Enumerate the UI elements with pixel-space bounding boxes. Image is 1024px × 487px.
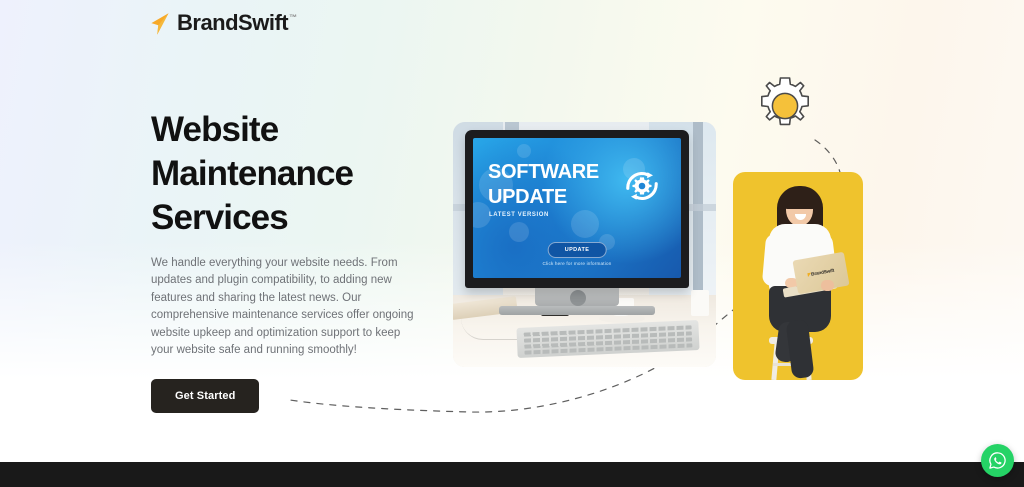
laptop-brand-logo: ◤BrandSwift [807, 268, 834, 279]
portrait-photo-card: ◤BrandSwift [733, 172, 863, 380]
update-gear-refresh-icon [620, 164, 664, 208]
laptop-logo-text: BrandSwift [811, 268, 835, 277]
imac-monitor: SOFTWARE UPDATE LATEST VERSION UPDATE Cl… [465, 130, 689, 288]
orange-arrow-logo-icon [146, 11, 172, 37]
site-header: BrandSwift ™ [0, 0, 1024, 46]
monitor-photo-card: SOFTWARE UPDATE LATEST VERSION UPDATE Cl… [453, 122, 716, 367]
hero-section: BrandSwift ™ Website Maintenance Service… [0, 0, 1024, 462]
brand-trademark: ™ [289, 13, 297, 23]
get-started-button[interactable]: Get Started [151, 379, 259, 413]
monitor-screen: SOFTWARE UPDATE LATEST VERSION UPDATE Cl… [473, 138, 681, 278]
brand-logo[interactable]: BrandSwift ™ [146, 10, 297, 37]
whatsapp-chat-button[interactable] [981, 444, 1014, 477]
brand-name: BrandSwift [177, 10, 288, 36]
screen-subtitle: LATEST VERSION [489, 212, 549, 218]
page-title: Website Maintenance Services [151, 108, 419, 240]
hero-copy: Website Maintenance Services We handle e… [151, 108, 419, 413]
screen-more-info-link[interactable]: Click here for more information [542, 261, 611, 266]
screen-title: SOFTWARE UPDATE [488, 160, 606, 210]
screen-update-button[interactable]: UPDATE [548, 242, 607, 258]
footer-band [0, 462, 1024, 487]
hero-paragraph: We handle everything your website needs.… [151, 255, 419, 359]
gear-icon [751, 72, 819, 140]
whatsapp-icon [988, 451, 1007, 470]
